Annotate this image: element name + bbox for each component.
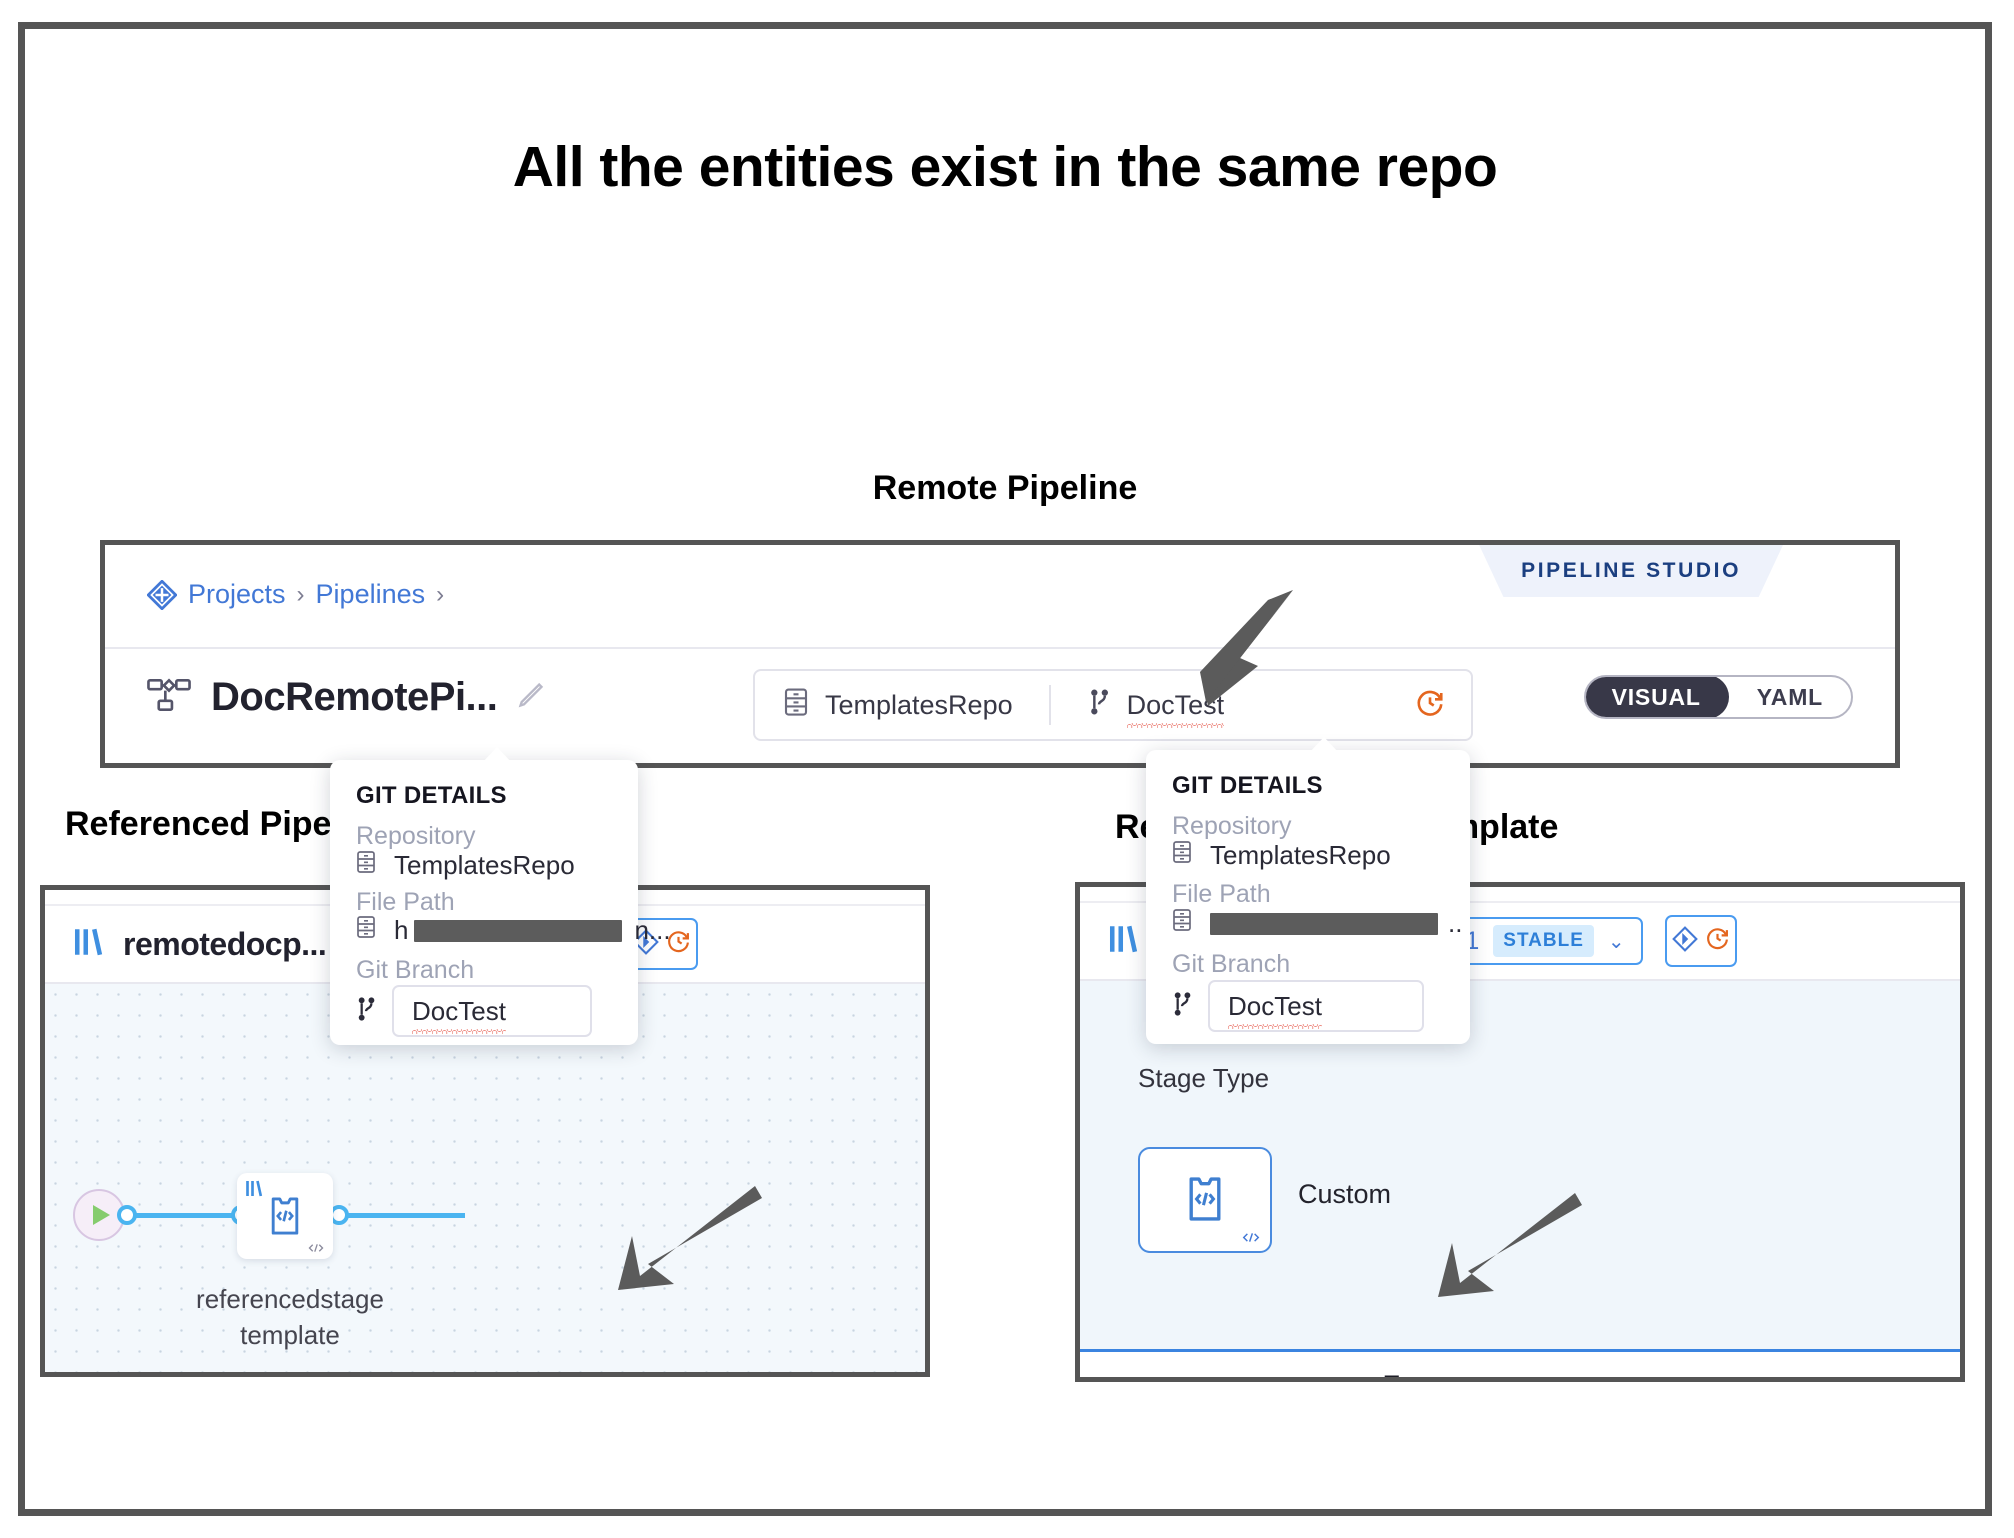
repository-icon xyxy=(1172,908,1192,939)
tab-execution[interactable]: ✓ Execu xyxy=(1343,1352,1458,1382)
breadcrumb-separator: › xyxy=(436,581,444,609)
check-icon: ✓ xyxy=(1114,1372,1137,1382)
template-name: remotedocp... xyxy=(123,926,326,963)
file-path-label: File Path xyxy=(356,888,455,917)
repository-label: Repository xyxy=(1172,812,1292,841)
code-icon xyxy=(307,1241,325,1253)
git-branch-input[interactable]: DocTest xyxy=(1208,980,1424,1032)
git-details-heading: GIT DETAILS xyxy=(356,782,507,810)
pipeline-name: DocRemotePi... xyxy=(211,675,497,720)
git-diamond-icon xyxy=(1672,926,1698,957)
breadcrumb-link-pipelines[interactable]: Pipelines xyxy=(316,579,426,610)
git-branch-row: DocTest xyxy=(356,985,592,1037)
git-details-popover-pipeline-template: GIT DETAILS Repository TemplatesRepo Fil… xyxy=(330,760,638,1045)
arrow-to-pipeline-template-branch xyxy=(570,1178,770,1308)
file-path-prefix: h xyxy=(394,915,408,946)
stage-node[interactable] xyxy=(237,1173,333,1259)
pipeline-studio-badge: PIPELINE STUDIO xyxy=(1479,545,1783,597)
file-path-redaction xyxy=(414,920,622,942)
git-branch-input[interactable]: DocTest xyxy=(392,985,592,1037)
tab-overview-label: Overview xyxy=(1153,1373,1266,1382)
repository-icon xyxy=(356,850,376,881)
remote-pipeline-window: Projects › Pipelines › PIPELINE STUDIO D… xyxy=(100,540,1900,768)
breadcrumb: Projects › Pipelines › xyxy=(147,579,444,610)
reload-clock-icon xyxy=(1705,926,1730,956)
template-icon xyxy=(1080,923,1142,960)
file-path-value-row: h n... xyxy=(356,915,671,946)
git-branch-icon xyxy=(356,996,376,1027)
custom-stage-icon xyxy=(1182,1173,1228,1225)
version-badge-stable: STABLE xyxy=(1493,925,1594,957)
arrow-to-stage-template-branch xyxy=(1390,1185,1590,1315)
tab-overview[interactable]: ✓ Overview xyxy=(1114,1352,1266,1382)
visual-yaml-toggle[interactable]: VISUAL YAML xyxy=(1584,675,1853,719)
file-path-label: File Path xyxy=(1172,880,1271,909)
repository-value: TemplatesRepo xyxy=(1210,840,1391,871)
play-icon xyxy=(93,1205,110,1225)
repo-selector[interactable]: TemplatesRepo xyxy=(755,687,1013,724)
custom-stage-icon xyxy=(265,1195,305,1237)
divider xyxy=(1049,685,1051,725)
git-details-popover-stage-template: GIT DETAILS Repository TemplatesRepo Fil… xyxy=(1146,750,1470,1044)
git-branch-row: DocTest xyxy=(1172,980,1424,1032)
section-title-remote-pipeline: Remote Pipeline xyxy=(25,469,1985,508)
file-path-suffix: .. xyxy=(1448,908,1462,939)
repository-value-row: TemplatesRepo xyxy=(356,850,575,881)
repository-icon xyxy=(783,687,809,724)
git-details-heading: GIT DETAILS xyxy=(1172,772,1323,800)
toggle-option-visual[interactable]: VISUAL xyxy=(1584,675,1729,719)
template-icon xyxy=(245,1179,265,1198)
stage-tab-bar: ✓ Overview › ✓ Execu xyxy=(1080,1349,1960,1382)
git-branch-label: Git Branch xyxy=(1172,950,1290,979)
git-branch-value: DocTest xyxy=(1228,991,1322,1022)
connector-dot xyxy=(117,1205,137,1225)
breadcrumb-link-projects[interactable]: Projects xyxy=(188,579,286,610)
page-title: All the entities exist in the same repo xyxy=(25,134,1985,200)
code-icon xyxy=(1241,1231,1261,1244)
harness-logo-icon xyxy=(147,580,177,610)
pencil-icon[interactable] xyxy=(517,681,545,714)
file-path-suffix: n... xyxy=(634,915,670,946)
tab-execution-label: Execu xyxy=(1382,1370,1457,1382)
stage-type-card-custom[interactable] xyxy=(1138,1147,1272,1253)
stage-type-value: Custom xyxy=(1298,1179,1391,1210)
chevron-right-icon: › xyxy=(1300,1373,1309,1382)
arrow-to-pipeline-branch xyxy=(1090,580,1310,720)
pipeline-toolbar: DocRemotePi... TemplatesRepo xyxy=(105,649,1895,764)
chevron-down-icon[interactable]: ⌄ xyxy=(1608,929,1625,954)
git-branch-icon xyxy=(1172,991,1192,1022)
connector-line xyxy=(345,1213,465,1218)
reload-clock-icon[interactable] xyxy=(1415,688,1445,723)
stage-type-label: Stage Type xyxy=(1138,1063,1269,1094)
stage-node-label: referencedstage template xyxy=(195,1282,385,1354)
repository-label: Repository xyxy=(356,822,476,851)
stage-label-line-1: referencedstage xyxy=(195,1282,385,1318)
file-path-value-row: .. xyxy=(1172,908,1462,939)
repository-value-row: TemplatesRepo xyxy=(1172,840,1391,871)
repo-name: TemplatesRepo xyxy=(825,690,1013,721)
check-icon: ✓ xyxy=(1343,1369,1366,1382)
git-details-button[interactable] xyxy=(1665,915,1737,967)
connector-line xyxy=(133,1213,237,1218)
repository-icon xyxy=(1172,840,1192,871)
breadcrumb-bar: Projects › Pipelines › PIPELINE STUDIO xyxy=(105,545,1895,649)
git-branch-value: DocTest xyxy=(412,996,506,1027)
toggle-option-yaml[interactable]: YAML xyxy=(1729,677,1851,717)
repository-value: TemplatesRepo xyxy=(394,850,575,881)
file-path-redaction xyxy=(1210,913,1438,935)
pipeline-icon xyxy=(147,677,191,718)
repository-icon xyxy=(356,915,376,946)
git-branch-label: Git Branch xyxy=(356,956,474,985)
pipeline-name-group: DocRemotePi... xyxy=(147,675,545,720)
stage-label-line-2: template xyxy=(195,1318,385,1354)
template-icon xyxy=(45,926,107,963)
breadcrumb-separator: › xyxy=(297,581,305,609)
